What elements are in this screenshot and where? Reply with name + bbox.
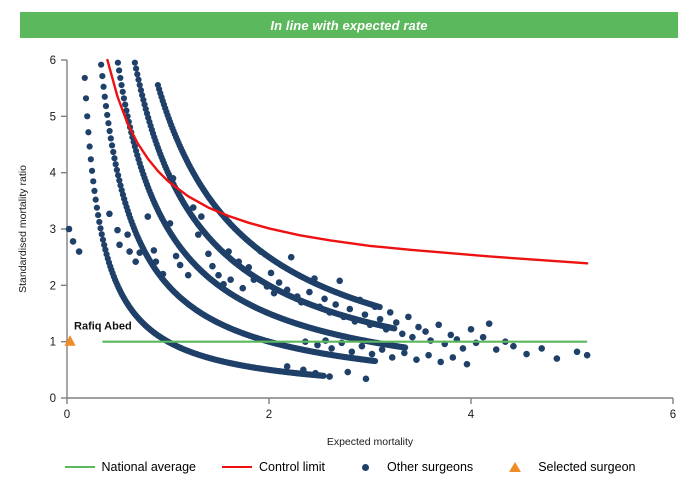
- surgeon-point: [124, 231, 131, 238]
- surgeon-point: [99, 73, 105, 79]
- legend-label: Other surgeons: [387, 460, 473, 474]
- surgeon-point: [321, 296, 328, 303]
- surgeon-point: [110, 149, 116, 155]
- surgeon-point: [104, 112, 110, 118]
- surgeon-point: [167, 220, 174, 227]
- surgeon-point: [70, 238, 77, 245]
- y-tick-label-0: 0: [50, 393, 56, 405]
- surgeon-point: [468, 326, 475, 333]
- surgeon-point: [173, 253, 180, 260]
- surgeon-point: [538, 345, 545, 352]
- surgeon-point: [437, 359, 444, 366]
- surgeon-point: [402, 344, 408, 350]
- surgeon-point: [113, 161, 119, 167]
- surgeon-point: [215, 272, 222, 279]
- selected-surgeon-marker[interactable]: [64, 335, 75, 346]
- surgeon-point: [312, 370, 319, 377]
- surgeon-point: [90, 178, 96, 184]
- surgeon-point: [422, 328, 429, 335]
- surgeon-point: [284, 287, 291, 294]
- surgeon-point: [276, 279, 283, 286]
- legend-dot-swatch: [362, 464, 369, 471]
- chart-container: 01234560246 Expected mortalityStandardis…: [0, 40, 700, 500]
- surgeon-point: [102, 94, 108, 100]
- y-tick-label-4: 4: [50, 168, 57, 180]
- y-tick-label-2: 2: [50, 280, 56, 292]
- surgeon-point: [510, 343, 517, 350]
- surgeon-point: [87, 143, 93, 149]
- surgeon-point: [425, 352, 432, 359]
- surgeon-point: [95, 212, 101, 218]
- surgeon-point: [118, 82, 124, 88]
- surgeon-point: [306, 289, 313, 296]
- surgeon-point: [344, 369, 351, 376]
- surgeon-point: [486, 320, 493, 327]
- surgeon-point: [320, 373, 326, 379]
- surgeon-point: [136, 249, 143, 256]
- surgeon-point: [251, 276, 258, 283]
- surgeon-point: [96, 219, 102, 225]
- surgeon-point: [367, 321, 374, 328]
- surgeon-point: [91, 188, 97, 194]
- surgeon-point: [359, 343, 366, 350]
- surgeon-point: [239, 285, 246, 292]
- surgeon-point: [100, 84, 106, 90]
- surgeon-point: [377, 316, 384, 323]
- surgeon-point: [326, 309, 333, 316]
- surgeon-point: [473, 339, 480, 346]
- surgeon-point: [83, 95, 89, 101]
- surgeon-point: [316, 303, 323, 310]
- y-tick-label-3: 3: [50, 224, 56, 236]
- surgeon-point: [198, 213, 205, 220]
- surgeon-point: [584, 352, 591, 359]
- x-tick-label-6: 6: [670, 409, 676, 421]
- surgeon-point: [185, 272, 192, 279]
- surgeon-point: [284, 363, 291, 370]
- surgeon-point: [379, 346, 386, 353]
- surgeon-point: [246, 264, 253, 271]
- surgeon-point: [523, 351, 530, 358]
- surgeon-point: [464, 361, 471, 368]
- surgeon-point: [209, 263, 216, 270]
- surgeon-point: [264, 283, 271, 290]
- surgeon-point: [362, 311, 369, 318]
- surgeon-point: [114, 227, 121, 234]
- surgeon-point: [372, 303, 379, 310]
- surgeon-point: [88, 156, 94, 162]
- surgeon-point: [116, 241, 123, 248]
- surgeon-point: [493, 346, 500, 353]
- surgeon-point: [89, 168, 95, 174]
- x-axis-title: Expected mortality: [327, 436, 414, 448]
- x-tick-label-4: 4: [468, 409, 475, 421]
- y-tick-label-6: 6: [50, 55, 56, 67]
- legend-item-national-average[interactable]: National average: [65, 460, 197, 474]
- surgeon-point: [103, 103, 109, 109]
- surgeon-point: [347, 306, 354, 313]
- surgeon-point: [109, 142, 115, 148]
- surgeon-point: [372, 358, 378, 364]
- legend-label: Selected surgeon: [538, 460, 635, 474]
- surgeon-point: [448, 332, 455, 339]
- surgeon-point: [338, 339, 345, 346]
- surgeon-point: [393, 319, 400, 326]
- surgeon-point: [120, 89, 126, 95]
- surgeon-point: [326, 373, 333, 380]
- surgeon-point: [151, 247, 158, 254]
- legend-item-control-limit[interactable]: Control limit: [222, 460, 325, 474]
- surgeon-point: [220, 281, 227, 288]
- surgeon-point: [100, 237, 106, 243]
- surgeon-point: [85, 129, 91, 135]
- surgeon-point: [480, 334, 487, 341]
- surgeon-point: [311, 275, 318, 282]
- surgeon-point: [409, 334, 416, 341]
- surgeon-point: [336, 278, 343, 285]
- surgeon-point: [288, 254, 295, 261]
- legend-line-swatch: [65, 466, 95, 468]
- surgeon-point: [574, 349, 581, 356]
- surgeon-point: [405, 314, 412, 321]
- legend-label: Control limit: [259, 460, 325, 474]
- legend-label: National average: [102, 460, 197, 474]
- surgeon-point: [352, 318, 359, 325]
- surgeon-point: [122, 102, 128, 108]
- control-limit-line: [107, 60, 587, 263]
- surgeon-point: [332, 301, 339, 308]
- surgeon-point: [93, 197, 99, 203]
- surgeon-point: [227, 276, 234, 283]
- surgeon-point: [389, 354, 396, 361]
- surgeon-point: [76, 248, 83, 255]
- funnel-plot-svg: 01234560246 Expected mortalityStandardis…: [0, 40, 700, 450]
- surgeon-point: [363, 376, 370, 383]
- surgeon-point: [322, 337, 329, 344]
- surgeon-point: [294, 293, 301, 300]
- surgeon-point: [383, 326, 390, 333]
- surgeon-point: [195, 231, 202, 238]
- surgeon-point: [114, 167, 120, 173]
- surgeon-point: [160, 271, 167, 278]
- surgeon-point: [413, 356, 420, 363]
- surgeon-point: [369, 351, 376, 358]
- surgeon-point: [121, 95, 127, 101]
- surgeon-point: [132, 60, 138, 66]
- surgeon-point: [107, 128, 113, 134]
- surgeon-point: [115, 60, 121, 66]
- surgeon-point: [170, 175, 177, 182]
- surgeon-point: [94, 205, 100, 211]
- surgeon-point: [427, 337, 434, 344]
- chart-legend: National averageControl limitOther surge…: [0, 452, 700, 482]
- x-tick-label-2: 2: [266, 409, 272, 421]
- surgeon-point: [235, 258, 242, 265]
- surgeon-point: [133, 65, 139, 71]
- surgeon-point: [340, 314, 347, 321]
- surgeon-point: [99, 231, 105, 237]
- legend-item-selected-surgeon[interactable]: Selected surgeon: [499, 460, 635, 474]
- surgeon-point: [98, 62, 104, 68]
- surgeon-point: [401, 350, 408, 357]
- selected-surgeon-triangle: [64, 335, 75, 346]
- surgeon-point: [84, 113, 90, 119]
- surgeon-point: [225, 248, 232, 255]
- surgeon-point: [117, 75, 123, 81]
- status-banner-text: In line with expected rate: [270, 18, 427, 33]
- surgeon-point: [357, 297, 364, 304]
- status-banner: In line with expected rate: [20, 12, 678, 38]
- selected-surgeon-label: Rafiq Abed: [74, 321, 132, 333]
- legend-triangle-swatch: [509, 462, 521, 472]
- y-tick-label-5: 5: [50, 111, 56, 123]
- surgeon-point: [435, 321, 442, 328]
- surgeon-point: [415, 324, 422, 331]
- surgeon-point: [298, 299, 305, 306]
- surgeon-point: [258, 248, 265, 255]
- surgeon-point: [391, 325, 397, 331]
- surgeon-point: [108, 135, 114, 141]
- surgeon-point: [111, 155, 117, 161]
- y-tick-label-1: 1: [50, 337, 56, 349]
- surgeon-point: [134, 71, 140, 77]
- surgeon-point: [135, 77, 141, 83]
- surgeon-point: [328, 345, 335, 352]
- x-tick-label-0: 0: [64, 409, 70, 421]
- surgeon-point: [115, 172, 121, 178]
- y-axis-title: Standardised mortality ratio: [17, 165, 29, 293]
- other-surgeons-points: [66, 175, 591, 382]
- surgeon-point: [153, 258, 160, 265]
- surgeon-point: [399, 330, 406, 337]
- surgeon-point: [271, 290, 278, 297]
- surgeon-point: [450, 354, 457, 361]
- surgeon-point: [116, 67, 122, 73]
- surgeon-point: [145, 213, 152, 220]
- control-limit-path: [107, 60, 587, 263]
- surgeon-point: [554, 355, 561, 362]
- legend-line-swatch: [222, 466, 252, 468]
- surgeon-point: [300, 367, 307, 374]
- surgeon-point: [105, 120, 111, 126]
- surgeon-point: [268, 270, 275, 277]
- surgeon-point: [177, 262, 184, 269]
- surgeon-point: [190, 204, 197, 211]
- surgeon-point: [132, 258, 139, 265]
- surgeon-point: [106, 210, 113, 217]
- legend-item-other-surgeons[interactable]: Other surgeons: [351, 460, 473, 474]
- funnel-plot-page: In line with expected rate 01234560246 E…: [0, 0, 700, 500]
- surgeon-point: [137, 82, 143, 88]
- surgeon-point: [126, 248, 133, 255]
- surgeon-point: [460, 345, 467, 352]
- surgeon-point: [205, 250, 212, 257]
- surgeon-point: [97, 225, 103, 231]
- surgeon-point: [387, 309, 394, 316]
- surgeon-point: [66, 226, 73, 233]
- surgeon-point: [349, 349, 356, 356]
- surgeon-point: [82, 75, 88, 81]
